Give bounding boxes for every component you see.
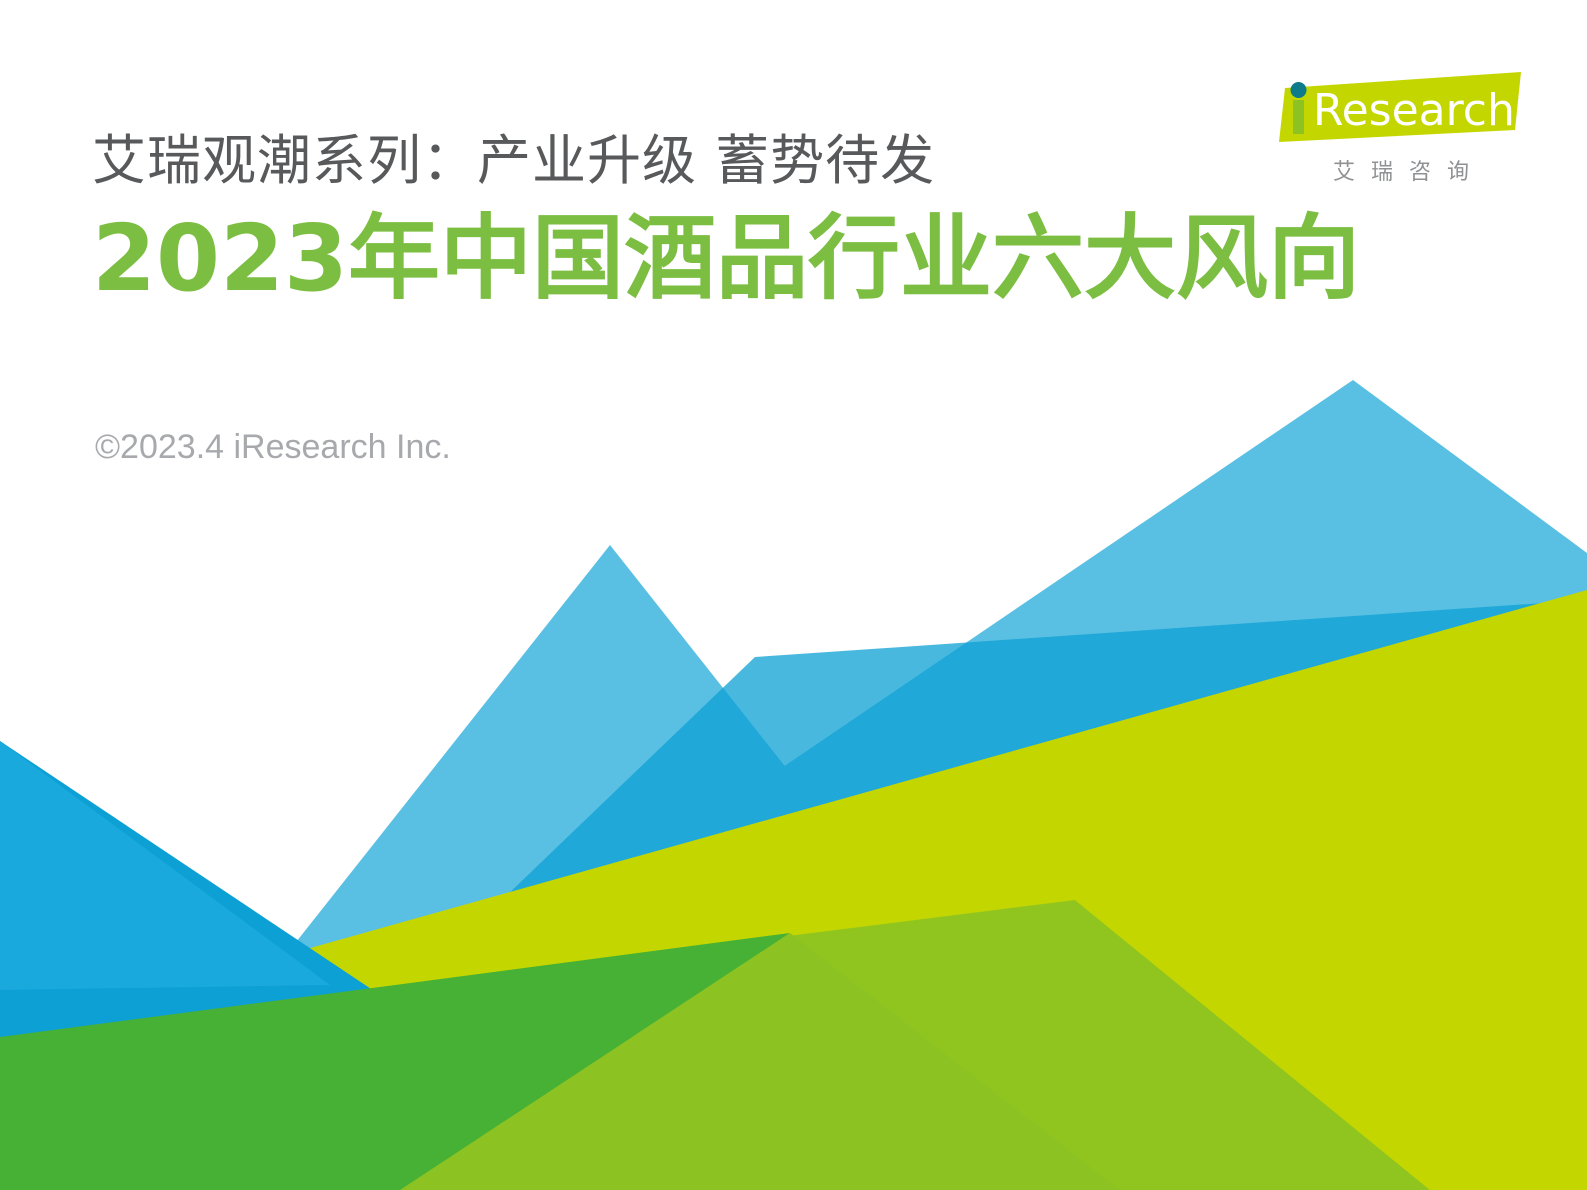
logo-i-dot — [1291, 82, 1307, 98]
blue-lower-left-light-shape — [0, 741, 330, 990]
blue-lower-left-shape — [0, 741, 470, 1060]
heading-group: 艾瑞观潮系列：产业升级 蓄势待发 2023年中国酒品行业六大风向 — [92, 130, 1360, 312]
yellow-green-slope-shape — [0, 590, 1587, 1190]
dark-green-left-shape — [0, 940, 760, 1190]
copyright-line: ©2023.4 iResearch Inc. — [95, 428, 451, 467]
center-blue-peak-shape — [100, 545, 1120, 1190]
logo-i-stem — [1293, 100, 1304, 134]
mid-green-center-shape — [400, 933, 1120, 1190]
right-blue-peak-shape — [160, 380, 1587, 1190]
cover-slide: Research 艾瑞咨询 艾瑞观潮系列：产业升级 蓄势待发 2023年中国酒品… — [0, 0, 1587, 1190]
left-blue-overlap-shape — [0, 741, 330, 1190]
logo-wordmark: Research — [1313, 85, 1515, 136]
dark-green-bottom-shape — [0, 933, 790, 1190]
blue-overlap-band-shape — [200, 600, 1587, 1190]
bright-green-right-shape — [1075, 745, 1587, 1190]
left-blue-wedge-shape — [0, 741, 600, 1190]
report-title: 2023年中国酒品行业六大风向 — [92, 206, 1360, 312]
mid-green-slope-shape — [0, 900, 1430, 1190]
report-subtitle: 艾瑞观潮系列：产业升级 蓄势待发 — [92, 130, 1360, 192]
